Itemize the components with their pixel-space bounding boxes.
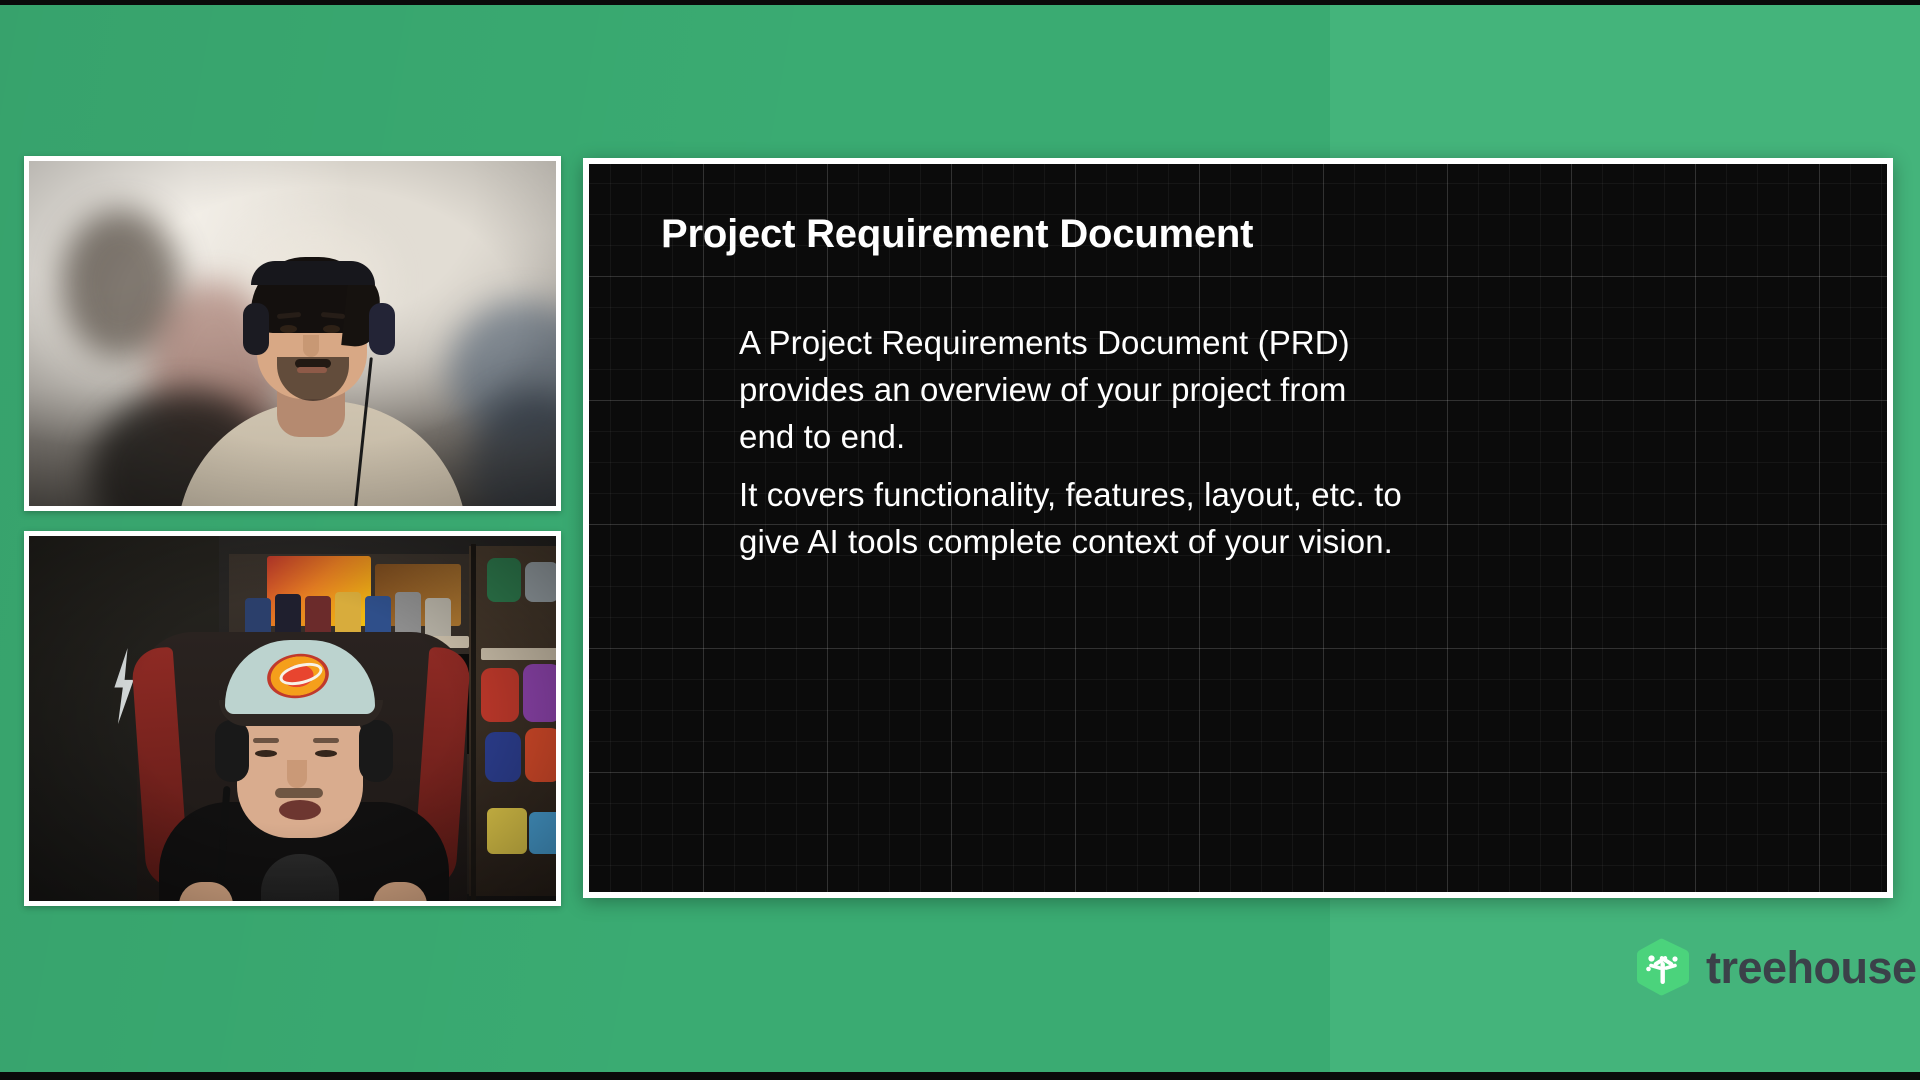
treehouse-wordmark: treehouse [1706,945,1917,990]
treehouse-brand: treehouse [1636,938,1917,996]
slide-title: Project Requirement Document [661,212,1253,257]
video-vignette [29,161,556,506]
slide-paragraph-2: It covers functionality, features, layou… [739,471,1402,565]
screen-root: Project Requirement Document A Project R… [0,0,1920,1080]
presentation-slide-frame[interactable]: Project Requirement Document A Project R… [583,158,1893,898]
presenter-video-top[interactable] [24,156,561,511]
slide-paragraph-1: A Project Requirements Document (PRD) pr… [739,319,1350,460]
video-vignette [29,536,556,901]
treehouse-hexagon-icon [1636,938,1690,996]
presentation-slide: Project Requirement Document A Project R… [589,164,1887,892]
video-frame-top [29,161,556,506]
presenter-video-bottom[interactable] [24,531,561,906]
video-frame-bottom [29,536,556,901]
bottom-letterbox-strip [0,1072,1920,1080]
top-letterbox-strip [0,0,1920,5]
